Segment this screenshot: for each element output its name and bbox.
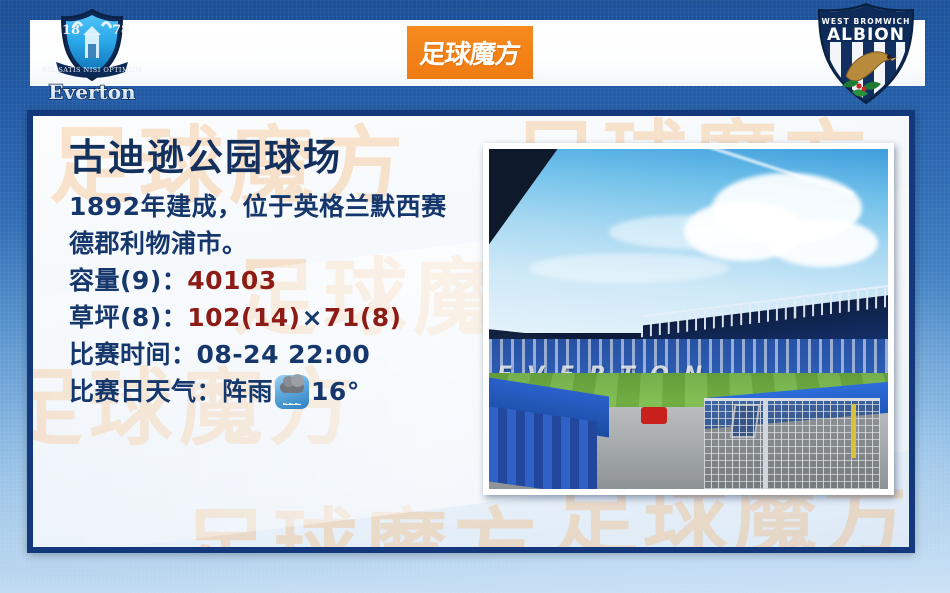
crest-year-left: 18 (62, 23, 80, 38)
capacity-value: 40103 (187, 266, 276, 295)
weather-temperature: 16° (311, 373, 360, 410)
pitch-length-value: 102(14) (187, 303, 300, 332)
match-time-row: 比赛时间：08-24 22:00 (69, 336, 447, 373)
crest-year-right: 78 (112, 23, 130, 38)
stadium-description-line-1: 1892年建成，位于英格兰默西赛 (69, 188, 447, 225)
stadium-description-line-2: 德郡利物浦市。 (69, 225, 447, 262)
brand-logo-text: 足球魔方 (418, 34, 522, 71)
weather-condition: 阵雨 (222, 373, 273, 410)
weather-row: 比赛日天气：阵雨16° (69, 373, 447, 410)
goodison-park-stadium-photo: EVERTON (483, 143, 894, 495)
match-preview-card: 18 78 NIL SATIS NISI OPTIMUM Everton 埃弗顿… (0, 0, 950, 593)
crest-motto: NIL SATIS NISI OPTIMUM (42, 66, 143, 74)
stadium-title: 古迪逊公园球场 (69, 134, 447, 182)
west-bromwich-albion-crest: WEST BROMWICH ALBION (812, 2, 920, 106)
match-time-label: 比赛时间： (69, 340, 197, 369)
capacity-label: 容量(9)： (69, 266, 187, 295)
crest-club-name: Everton (48, 80, 136, 104)
weather-label: 比赛日天气： (69, 373, 222, 410)
shower-rain-icon (275, 375, 309, 409)
pitch-width-value: 71(8) (324, 303, 402, 332)
pitch-label: 草坪(8)： (69, 303, 187, 332)
stadium-info-block: 古迪逊公园球场 1892年建成，位于英格兰默西赛 德郡利物浦市。 容量(9)：4… (69, 134, 447, 410)
capacity-row: 容量(9)：40103 (69, 262, 447, 299)
everton-crest: 18 78 NIL SATIS NISI OPTIMUM Everton (40, 4, 144, 104)
brand-logo: 足球魔方 (407, 26, 533, 79)
watermark-text: 足球魔方 (183, 506, 543, 547)
pitch-row: 草坪(8)：102(14)×71(8) (69, 299, 447, 336)
match-time-value: 08-24 22:00 (197, 340, 371, 369)
wba-line2: ALBION (827, 25, 905, 45)
pitch-separator: × (301, 303, 324, 332)
